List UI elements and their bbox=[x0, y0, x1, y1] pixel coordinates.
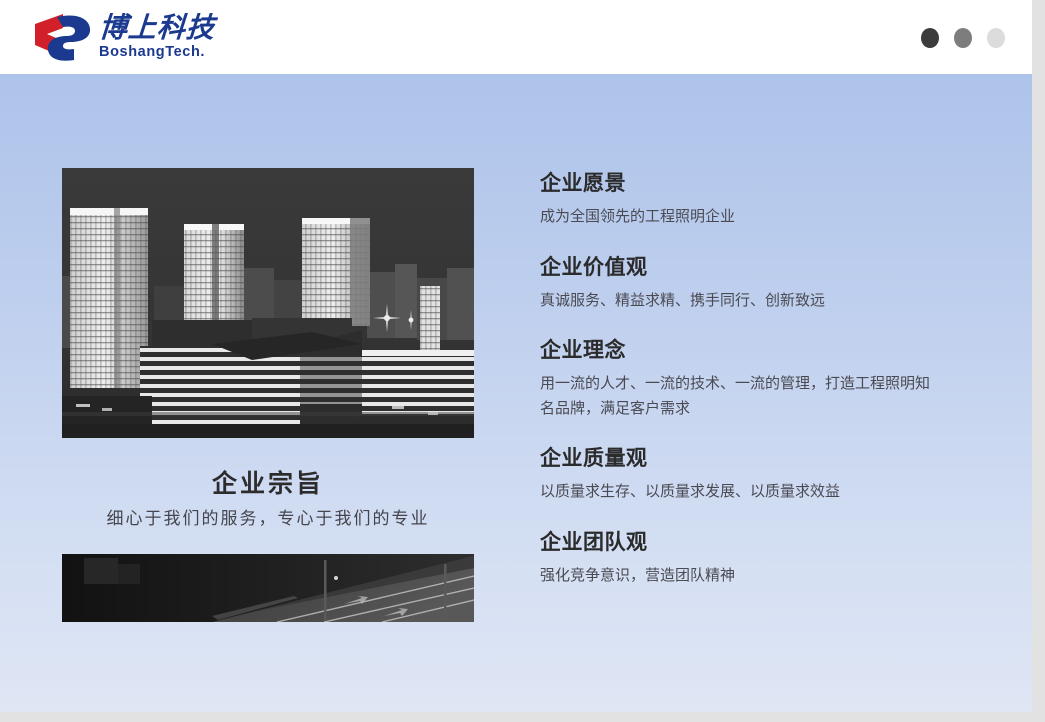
page-content: 企业宗旨 细心于我们的服务，专心于我们的专业 bbox=[0, 74, 1032, 712]
value-block-team: 企业团队观 强化竞争意识，营造团队精神 bbox=[540, 529, 960, 588]
value-block-quality: 企业质量观 以质量求生存、以质量求发展、以质量求效益 bbox=[540, 445, 960, 504]
night-road-photo bbox=[62, 554, 474, 622]
value-body: 成为全国领先的工程照明企业 bbox=[540, 204, 940, 228]
city-night-skyline-graphic bbox=[62, 168, 474, 438]
value-block-values: 企业价值观 真诚服务、精益求精、携手同行、创新致远 bbox=[540, 254, 960, 313]
value-body: 强化竞争意识，营造团队精神 bbox=[540, 563, 940, 587]
city-night-skyline-photo bbox=[62, 168, 474, 438]
value-body: 以质量求生存、以质量求发展、以质量求效益 bbox=[540, 479, 940, 503]
value-heading: 企业价值观 bbox=[540, 254, 960, 281]
site-header: 博上科技 BoshangTech. bbox=[0, 0, 1032, 74]
carousel-dots[interactable] bbox=[921, 28, 1005, 48]
company-purpose-heading: 企业宗旨 bbox=[62, 468, 474, 499]
logo-chinese-name: 博上科技 bbox=[98, 14, 216, 42]
right-column: 企业愿景 成为全国领先的工程照明企业 企业价值观 真诚服务、精益求精、携手同行、… bbox=[540, 170, 960, 587]
carousel-dot-1[interactable] bbox=[921, 28, 939, 48]
value-heading: 企业团队观 bbox=[540, 529, 960, 556]
left-column: 企业宗旨 细心于我们的服务，专心于我们的专业 bbox=[62, 168, 474, 622]
value-body: 真诚服务、精益求精、携手同行、创新致远 bbox=[540, 288, 940, 312]
night-road-graphic bbox=[62, 554, 474, 622]
site-logo[interactable]: 博上科技 BoshangTech. bbox=[33, 10, 215, 64]
logo-english-name: BoshangTech. bbox=[99, 45, 215, 60]
value-block-philosophy: 企业理念 用一流的人才、一流的技术、一流的管理，打造工程照明知名品牌，满足客户需… bbox=[540, 337, 960, 420]
scrollbar-gutter-bottom[interactable] bbox=[0, 712, 1045, 722]
value-heading: 企业理念 bbox=[540, 337, 960, 364]
boshang-logo-mark-icon bbox=[33, 12, 93, 62]
value-heading: 企业愿景 bbox=[540, 170, 960, 197]
company-purpose-body: 细心于我们的服务，专心于我们的专业 bbox=[62, 508, 474, 532]
value-block-vision: 企业愿景 成为全国领先的工程照明企业 bbox=[540, 170, 960, 229]
scrollbar-gutter-right[interactable] bbox=[1032, 0, 1045, 722]
value-heading: 企业质量观 bbox=[540, 445, 960, 472]
carousel-dot-3[interactable] bbox=[987, 28, 1005, 48]
company-purpose-block: 企业宗旨 细心于我们的服务，专心于我们的专业 bbox=[62, 438, 474, 554]
page-root: 博上科技 BoshangTech. bbox=[0, 0, 1032, 712]
logo-wordmark: 博上科技 BoshangTech. bbox=[99, 14, 215, 60]
carousel-dot-2[interactable] bbox=[954, 28, 972, 48]
value-body: 用一流的人才、一流的技术、一流的管理，打造工程照明知名品牌，满足客户需求 bbox=[540, 371, 940, 420]
